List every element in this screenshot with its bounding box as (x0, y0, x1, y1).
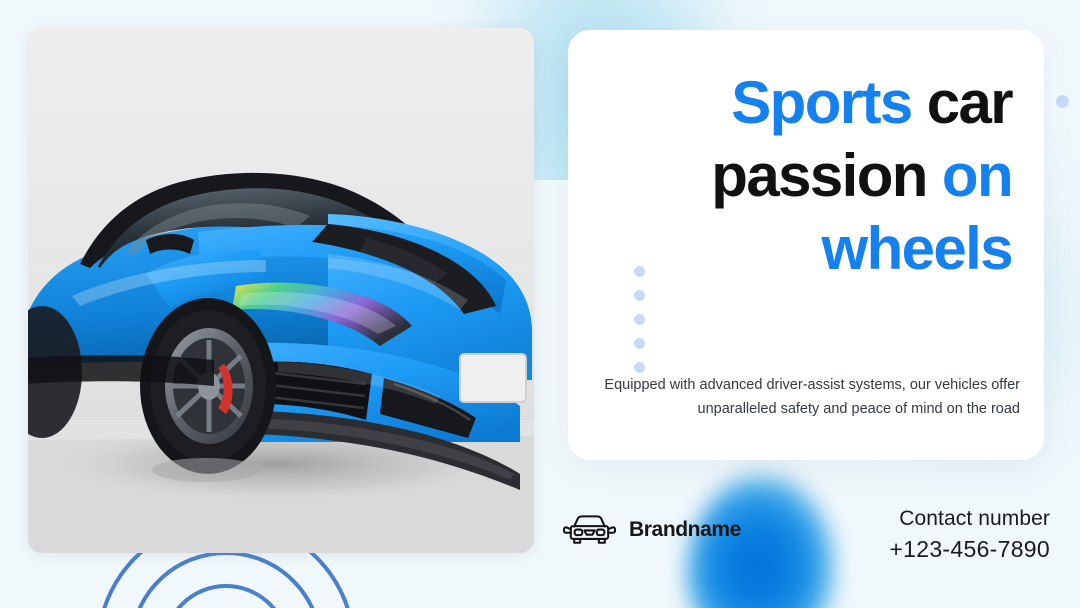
brand-block[interactable]: Brandname (562, 513, 741, 547)
description-text: Equipped with advanced driver-assist sys… (598, 374, 1020, 422)
brand-name-label: Brandname (629, 518, 741, 542)
decorative-dot (634, 266, 645, 277)
decorative-dot (634, 290, 645, 301)
headline-word-wheels: wheels (822, 215, 1013, 282)
decorative-dot (634, 314, 645, 325)
headline-word-passion: passion (711, 142, 942, 209)
contact-block: Contact number +123-456-7890 (889, 505, 1050, 565)
headline-line-1: Sports car (598, 66, 1012, 139)
page-title: Sports car passion on wheels (598, 66, 1014, 286)
decorative-dot (1056, 95, 1069, 108)
dot-list-decoration (634, 266, 645, 373)
headline-line-2: passion on (598, 139, 1012, 212)
headline-card: Sports car passion on wheels Equipped wi… (568, 30, 1044, 460)
contact-label: Contact number (889, 505, 1050, 534)
headline-word-on: on (942, 142, 1012, 209)
headline-line-3: wheels (598, 212, 1012, 285)
decorative-dot (634, 362, 645, 373)
car-photo-illustration (28, 28, 534, 553)
car-front-icon (562, 513, 617, 547)
headline-word-sports: Sports (731, 69, 911, 136)
contact-number[interactable]: +123-456-7890 (889, 534, 1050, 565)
car-photo-panel (28, 28, 534, 553)
headline-word-car: car (912, 69, 1012, 136)
decorative-dot (634, 338, 645, 349)
